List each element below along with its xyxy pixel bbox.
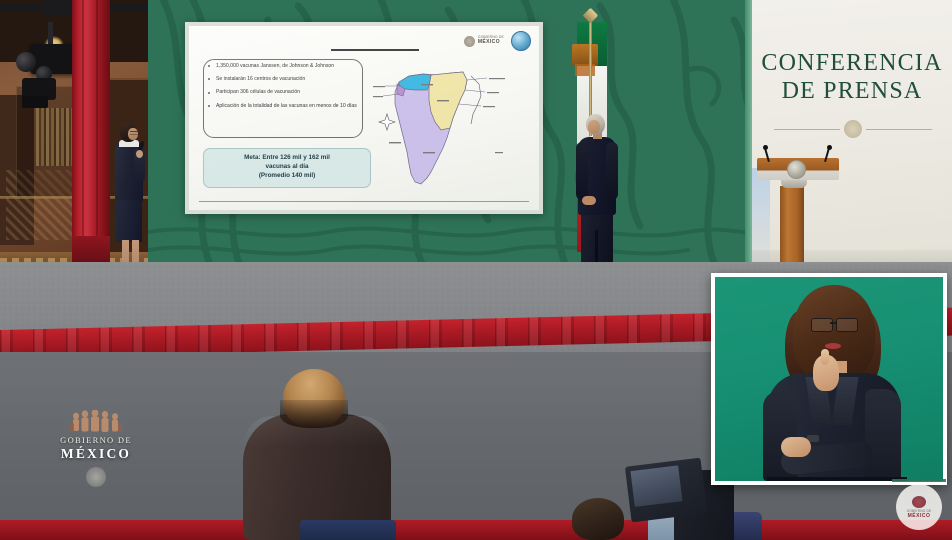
lower-red-band xyxy=(0,520,952,540)
official-arm-right xyxy=(606,142,618,200)
meta-highlight-box: Meta: Entre 126 mil y 162 mil vacunas al… xyxy=(203,148,371,188)
curtain-fold xyxy=(82,0,84,268)
ornament-rule-right xyxy=(866,129,932,130)
interpreter-glasses-bridge xyxy=(830,322,837,324)
laptop-device xyxy=(625,458,707,523)
podium-mic-head-right-icon xyxy=(827,145,832,150)
presenter-glasses-icon xyxy=(130,131,138,135)
list-item: 1,350,000 vacunas Janssen, de Johnson & … xyxy=(207,63,359,70)
audience-chair xyxy=(300,520,396,540)
interpreter-video xyxy=(715,277,943,481)
watermark-line-2: MÉXICO xyxy=(908,513,931,519)
slide-footer-rule xyxy=(199,201,529,202)
audience-member-hair xyxy=(280,400,348,428)
interpreter-lower-shadow xyxy=(767,477,907,481)
flag-gold-fringe-2 xyxy=(575,64,595,76)
interpreter-glasses-left-icon xyxy=(811,318,833,332)
official-face xyxy=(588,120,600,134)
presentation-slide: GOBIERNO DE MÉXICO 1,350,000 vacunas Jan… xyxy=(189,26,539,210)
audience-member-3-head xyxy=(572,498,624,540)
list-item: Participan 306 células de vacunación xyxy=(207,89,359,96)
compass-rose-icon xyxy=(379,114,395,130)
map-region-tijuana xyxy=(399,74,431,90)
title-line-2: DE PRENSA xyxy=(752,78,952,106)
gobierno-de-mexico-brand: GOBIERNO DE MÉXICO xyxy=(48,410,144,487)
gobierno-logo-text: GOBIERNO DE MÉXICO xyxy=(478,36,504,46)
bullet-items: 1,350,000 vacunas Janssen, de Johnson & … xyxy=(207,63,359,110)
interpreter-finger-signing xyxy=(821,349,829,365)
camera-mount xyxy=(22,96,48,108)
map-mainland-coast xyxy=(471,76,481,124)
interpreter-arm-right xyxy=(865,389,901,481)
podium-mic-head-left-icon xyxy=(763,145,768,150)
presenter-skirt xyxy=(116,200,142,242)
brand-line-2: MÉXICO xyxy=(48,446,144,462)
sign-language-interpreter-inset xyxy=(711,273,947,485)
watermark-green-bar xyxy=(892,479,946,482)
podium-national-seal-icon xyxy=(787,160,806,179)
brand-line-1: GOBIERNO DE xyxy=(48,435,144,445)
list-item: Se instalarán 16 centros de vacunación xyxy=(207,76,359,83)
bullet-list: 1,350,000 vacunas Janssen, de Johnson & … xyxy=(207,63,359,116)
presenter-hand xyxy=(136,150,143,158)
slide-header-rule xyxy=(331,49,419,51)
baja-california-map xyxy=(371,56,521,196)
ornament-rule-left xyxy=(774,129,840,130)
list-item: Aplicación de la totalidad de las vacuna… xyxy=(207,103,359,110)
red-curtain-column xyxy=(72,0,110,268)
flag-gold-fringe xyxy=(572,44,598,66)
camera-lens-icon xyxy=(16,52,36,72)
gobierno-mexico-logo: GOBIERNO DE MÉXICO xyxy=(464,36,504,47)
gobierno-watermark: GOBIERNO DE MÉXICO xyxy=(896,484,942,530)
title-line-1: CONFERENCIA xyxy=(752,50,952,78)
brand-seal-icon xyxy=(86,467,106,487)
logo-line-2: MÉXICO xyxy=(478,40,504,46)
interpreter-hand-lower xyxy=(781,437,811,457)
national-seal-icon xyxy=(844,120,862,138)
monument-figures-icon xyxy=(68,410,124,432)
laptop-screen xyxy=(630,465,682,507)
slide-logo-group: GOBIERNO DE MÉXICO xyxy=(464,31,531,51)
meta-line-2: vacunas al día xyxy=(208,163,366,172)
conference-broadcast-frame: CONFERENCIA DE PRENSA GOBIERNO DE MÉXICO… xyxy=(0,0,952,540)
page-title: CONFERENCIA DE PRENSA xyxy=(752,50,952,105)
eagle-icon xyxy=(464,36,475,47)
salud-circular-emblem-icon xyxy=(511,31,531,51)
official-hands xyxy=(582,196,596,205)
official-arm-left xyxy=(576,142,588,200)
interpreter-glasses-right-icon xyxy=(836,318,858,332)
title-ornament-divider xyxy=(752,118,952,140)
meta-line-1: Meta: Entre 126 mil y 162 mil xyxy=(208,154,366,163)
watermark-eagle-icon xyxy=(912,496,926,508)
meta-line-3: (Promedio 140 mil) xyxy=(208,172,366,181)
interpreter-mouth xyxy=(825,343,841,349)
stage-light-housing xyxy=(44,0,72,16)
curtain-fold-2 xyxy=(96,0,98,268)
